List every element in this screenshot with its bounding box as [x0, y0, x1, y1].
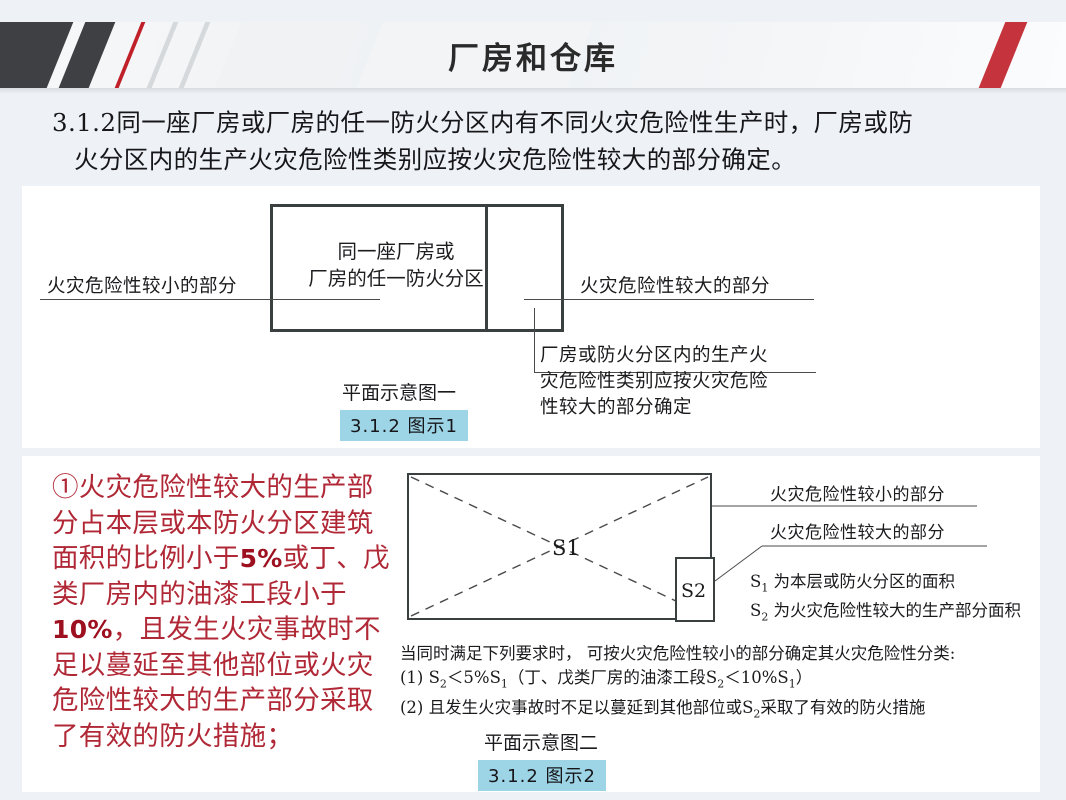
cond1-a: (1) S [400, 668, 440, 687]
conditions-text: 当同时满足下列要求时， 可按火灾危险性较小的部分确定其火灾危险性分类: (1) … [400, 642, 955, 727]
diagram-1-caption: 平面示意图一 [342, 378, 456, 405]
leader-line-left [40, 299, 380, 300]
label-larger-risk-part: 火灾危险性较大的部分 [770, 518, 945, 543]
cond1-d: ＜10%S [724, 668, 788, 687]
factory-box-label: 同一座厂房或 厂房的任一防火分区 [278, 238, 514, 292]
factory-box-label-line1: 同一座厂房或 [278, 238, 514, 265]
label-higher-risk-part: 火灾危险性较大的部分 [580, 272, 770, 298]
s2-definition: S2 为火灾危险性较大的生产部分面积 [750, 599, 1021, 628]
diagram-1-panel: 湖北环智安全科技有限公司 同一座厂房或 厂房的任一防火分区 火灾危险性较小的部分… [22, 186, 1040, 448]
s2-area-label: S2 [681, 580, 706, 602]
cond1-e: ） [796, 668, 813, 687]
cond1-c: （丁、戊类厂房的油漆工段S [508, 668, 717, 687]
cond2-b: 采取了有效的防火措施 [760, 698, 925, 717]
s1-def-text: 为本层或防火分区的面积 [768, 572, 955, 591]
clause-paragraph: 3.1.2同一座厂房或厂房的任一防火分区内有不同火灾危险性生产时，厂房或防 火分… [52, 104, 1042, 178]
callout-text: 厂房或防火分区内的生产火 灾危险性类别应按火灾危险 性较大的部分确定 [540, 343, 802, 421]
s2-def-symbol: S [750, 601, 761, 620]
header-shadow [0, 88, 1066, 94]
s1-definition: S1 为本层或防火分区的面积 [750, 570, 1021, 599]
label-lower-risk-part: 火灾危险性较小的部分 [47, 272, 237, 298]
leader-line-callout-vertical [534, 308, 535, 372]
diagram-2-caption: 平面示意图二 [484, 728, 598, 755]
cond1-sub2: 1 [501, 677, 508, 690]
factory-box-label-line2: 厂房的任一防火分区 [278, 265, 514, 292]
s1-area-label: S1 [552, 536, 580, 560]
callout-line-2: 灾危险性类别应按火灾危险 [540, 369, 802, 395]
conditions-intro: 当同时满足下列要求时， 可按火灾危险性较小的部分确定其火灾危险性分类: [400, 642, 955, 666]
diagram-2-caption-chip: 3.1.2 图示2 [478, 760, 606, 791]
leader-line-right [524, 299, 814, 300]
callout-line-3: 性较大的部分确定 [540, 395, 802, 421]
s2-def-text: 为火灾危险性较大的生产部分面积 [768, 601, 1021, 620]
area-definitions: S1 为本层或防火分区的面积 S2 为火灾危险性较大的生产部分面积 [750, 570, 1021, 629]
cond1-sub1: 2 [440, 677, 447, 690]
slide-header: 厂房和仓库 [0, 22, 1066, 88]
condition-2: (2) 且发生火灾事故时不足以蔓延到其他部位或S2采取了有效的防火措施 [400, 696, 955, 726]
cond2-a: (2) 且发生火灾事故时不足以蔓延到其他部位或S [400, 698, 753, 717]
condition-1: (1) S2＜5%S1（丁、戊类厂房的油漆工段S2＜10%S1） [400, 666, 955, 696]
page-title: 厂房和仓库 [0, 22, 1066, 88]
clause-line-2: 火分区内的生产火灾危险性类别应按火灾危险性较大的部分确定。 [52, 141, 1042, 178]
s1-def-symbol: S [750, 572, 761, 591]
clause-line-1: 3.1.2同一座厂房或厂房的任一防火分区内有不同火灾危险性生产时，厂房或防 [52, 108, 913, 137]
diagram-1-caption-chip: 3.1.2 图示1 [340, 410, 468, 441]
cond1-sub4: 1 [789, 677, 796, 690]
cond1-b: ＜5%S [447, 668, 501, 687]
label-smaller-risk-part: 火灾危险性较小的部分 [770, 480, 945, 505]
callout-line-1: 厂房或防火分区内的生产火 [540, 343, 802, 369]
diagram-2-panel: 湖北环智安全科技有限公司 ①火灾危险性较大的生产部分占本层或本防火分区建筑面积的… [22, 456, 1040, 792]
